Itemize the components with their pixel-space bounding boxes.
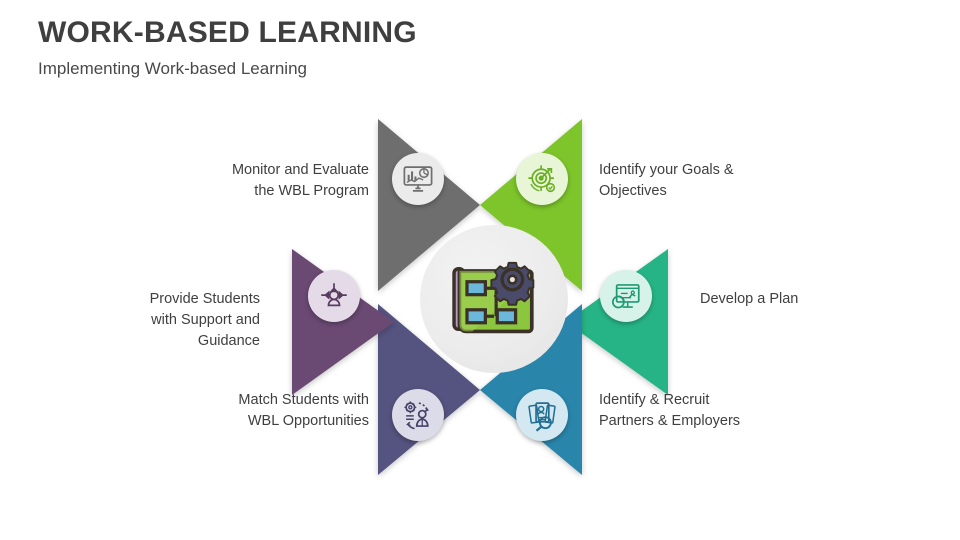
label-monitor-evaluate: Monitor and Evaluate the WBL Program [179,160,369,202]
label-identify-recruit-partners: Identify & Recruit Partners & Employers [599,390,809,432]
target-arrow-icon [525,162,559,196]
badge-develop-plan[interactable] [600,270,652,322]
page-title: WORK-BASED LEARNING [38,16,417,50]
student-process-icon [401,398,435,432]
badge-match-students[interactable] [392,389,444,441]
blueprint-gear-icon [440,245,548,353]
monitor-analytics-icon [401,162,435,196]
badge-monitor-evaluate[interactable] [392,153,444,205]
label-identify-goals: Identify your Goals & Objectives [599,160,799,202]
label-match-students: Match Students with WBL Opportunities [169,390,369,432]
label-develop-plan: Develop a Plan [700,289,880,310]
badge-identify-recruit-partners[interactable] [516,389,568,441]
presentation-chart-icon [609,279,643,313]
badge-identify-goals[interactable] [516,153,568,205]
person-arrows-icon [317,279,351,313]
resume-search-icon [525,398,559,432]
page-subtitle: Implementing Work-based Learning [38,59,307,79]
label-provide-support: Provide Students with Support and Guidan… [100,289,260,352]
slide-canvas: WORK-BASED LEARNING Implementing Work-ba… [0,0,960,540]
badge-provide-support[interactable] [308,270,360,322]
